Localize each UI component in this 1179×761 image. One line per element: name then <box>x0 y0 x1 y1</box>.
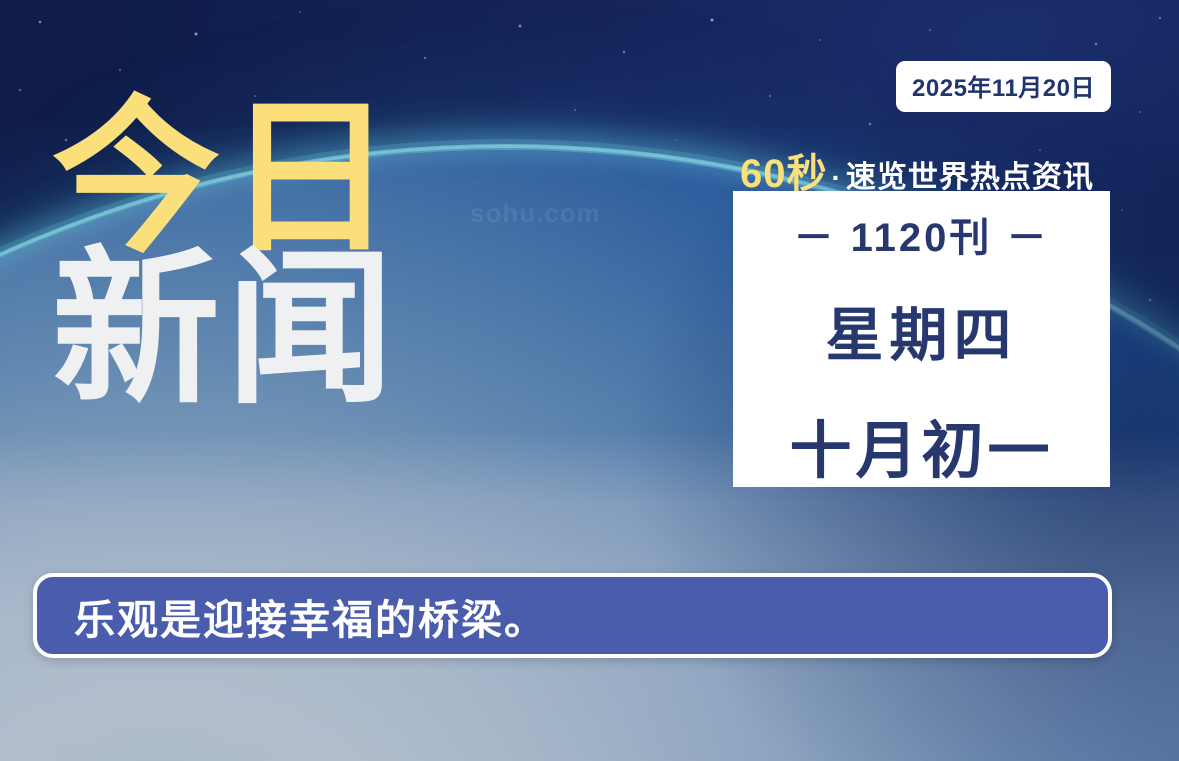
watermark-text: sohu.com <box>470 198 601 229</box>
slogan-highlight: 60秒 <box>740 152 828 196</box>
quote-bar: 乐观是迎接幸福的桥梁。 <box>33 573 1112 658</box>
quote-text: 乐观是迎接幸福的桥梁。 <box>74 586 547 646</box>
issue-number: － 1120刊 － <box>793 205 1049 263</box>
slogan-text: 速览世界热点资讯 <box>846 161 1094 194</box>
date-badge: 2025年11月20日 <box>896 61 1111 112</box>
page-title: 今日 新闻 <box>52 96 400 411</box>
weekday-label: 星期四 <box>825 288 1017 372</box>
lunar-date-label: 十月初一 <box>789 400 1053 490</box>
info-card: － 1120刊 － 星期四 十月初一 <box>733 191 1110 487</box>
page-title-line-2: 新闻 <box>52 247 400 412</box>
news-poster: sohu.com 今日 新闻 2025年11月20日 60秒·速览世界热点资讯 … <box>0 0 1179 761</box>
slogan-separator: · <box>828 162 846 193</box>
